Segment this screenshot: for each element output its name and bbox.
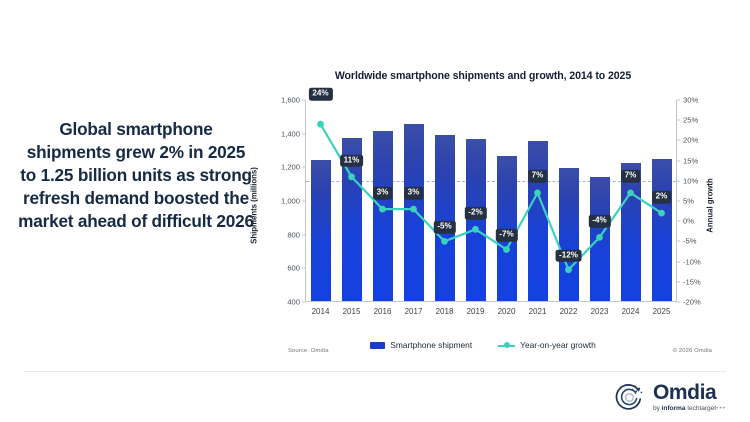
y-axis-left-tick: 600 — [287, 264, 300, 273]
line-point-2024 — [627, 190, 634, 197]
legend-item-shipment[interactable]: Smartphone shipment — [370, 340, 472, 350]
y-axis-right-tick: 0% — [683, 217, 694, 226]
y-axis-right-tick: -5% — [683, 237, 697, 246]
line-point-2025 — [658, 210, 665, 217]
line-point-2016 — [379, 206, 386, 213]
data-label-2023: -4% — [588, 215, 610, 228]
x-axis-tick-2019: 2019 — [467, 307, 485, 316]
y-axis-right-tick-mark — [677, 241, 680, 242]
x-axis-tick-2025: 2025 — [653, 307, 671, 316]
brand-text: Omdia by informa techtarget••• — [653, 382, 726, 413]
line-point-2015 — [348, 173, 355, 180]
y-axis-right-tick-mark — [677, 281, 680, 282]
y-axis-right-tick-mark — [677, 120, 680, 121]
line-marker-icon — [498, 341, 515, 350]
x-axis-tick-2020: 2020 — [498, 307, 516, 316]
headline-text: Global smartphone shipments grew 2% in 2… — [18, 118, 254, 232]
y-axis-right-tick-mark — [677, 100, 680, 101]
data-label-2014: 24% — [308, 88, 332, 101]
chart-title: Worldwide smartphone shipments and growt… — [248, 70, 718, 82]
x-axis-tick-2024: 2024 — [622, 307, 640, 316]
footer-divider — [24, 371, 726, 372]
line-point-2021 — [534, 190, 541, 197]
line-point-2022 — [565, 266, 572, 273]
data-label-2018: -5% — [433, 221, 455, 234]
y-axis-right-tick: -20% — [683, 298, 701, 307]
y-axis-left-tick: 1,600 — [281, 96, 300, 105]
y-axis-right-tick-mark — [677, 180, 680, 181]
brand-tagline: by informa techtarget••• — [653, 406, 726, 413]
line-point-2014 — [317, 121, 324, 128]
x-axis-tick-2015: 2015 — [343, 307, 361, 316]
growth-line-series — [305, 100, 677, 302]
line-point-2017 — [410, 206, 417, 213]
y-axis-left-title: Shipments (millions) — [250, 167, 259, 244]
x-axis-tick-2014: 2014 — [312, 307, 330, 316]
y-axis-right-tick: 15% — [683, 156, 698, 165]
data-label-2024: 7% — [621, 170, 641, 183]
chart-slide: Global smartphone shipments grew 2% in 2… — [0, 0, 750, 422]
line-point-2020 — [503, 246, 510, 253]
copyright-note: © 2026 Omdia — [673, 348, 712, 354]
line-point-2019 — [472, 226, 479, 233]
brand-logo: Omdia by informa techtarget••• — [613, 381, 726, 414]
legend-label: Smartphone shipment — [390, 340, 472, 350]
y-axis-left-tick: 1,400 — [281, 129, 300, 138]
y-axis-left-tick: 1,200 — [281, 163, 300, 172]
data-label-2015: 11% — [340, 154, 364, 167]
data-label-2025: 2% — [652, 191, 672, 204]
y-axis-right-tick-mark — [677, 302, 680, 303]
x-axis-tick-2017: 2017 — [405, 307, 423, 316]
y-axis-left-tick: 400 — [287, 298, 300, 307]
line-point-2018 — [441, 238, 448, 245]
y-axis-right-tick-mark — [677, 221, 680, 222]
plot-area: 1,6001,4001,2001,00080060040030%25%20%15… — [305, 100, 677, 302]
chart-container: Worldwide smartphone shipments and growt… — [248, 62, 718, 362]
y-axis-right-tick: 30% — [683, 96, 698, 105]
y-axis-right-tick-mark — [677, 160, 680, 161]
data-label-2019: -2% — [464, 207, 486, 220]
x-axis-tick-2023: 2023 — [591, 307, 609, 316]
data-label-2022: -12% — [555, 249, 582, 262]
x-axis-tick-2016: 2016 — [374, 307, 392, 316]
legend-item-growth[interactable]: Year-on-year growth — [498, 340, 596, 350]
data-label-2020: -7% — [495, 229, 517, 242]
omdia-swirl-logo-icon — [613, 381, 646, 414]
y-axis-right-title: Annual growth — [706, 178, 715, 233]
x-axis-tick-2022: 2022 — [560, 307, 578, 316]
y-axis-right-tick: 5% — [683, 197, 694, 206]
brand-name: Omdia — [653, 382, 726, 403]
x-axis-tick-2018: 2018 — [436, 307, 454, 316]
bar-swatch-icon — [370, 342, 385, 349]
y-axis-right-tick: 10% — [683, 176, 698, 185]
x-axis-tick-2021: 2021 — [529, 307, 547, 316]
y-axis-right-tick: 25% — [683, 116, 698, 125]
data-label-2021: 7% — [528, 170, 548, 183]
y-axis-left-tick: 1,000 — [281, 197, 300, 206]
y-axis-right-tick: -10% — [683, 257, 701, 266]
y-axis-right-tick-mark — [677, 201, 680, 202]
y-axis-left-tick: 800 — [287, 230, 300, 239]
y-axis-right-tick-mark — [677, 140, 680, 141]
data-label-2016: 3% — [373, 187, 393, 200]
y-axis-right-tick: -15% — [683, 277, 701, 286]
line-point-2023 — [596, 234, 603, 241]
y-axis-right-tick: 20% — [683, 136, 698, 145]
source-note: Source: Omdia — [288, 348, 329, 354]
legend-label: Year-on-year growth — [520, 340, 596, 350]
y-axis-right-tick-mark — [677, 261, 680, 262]
data-label-2017: 3% — [404, 187, 424, 200]
